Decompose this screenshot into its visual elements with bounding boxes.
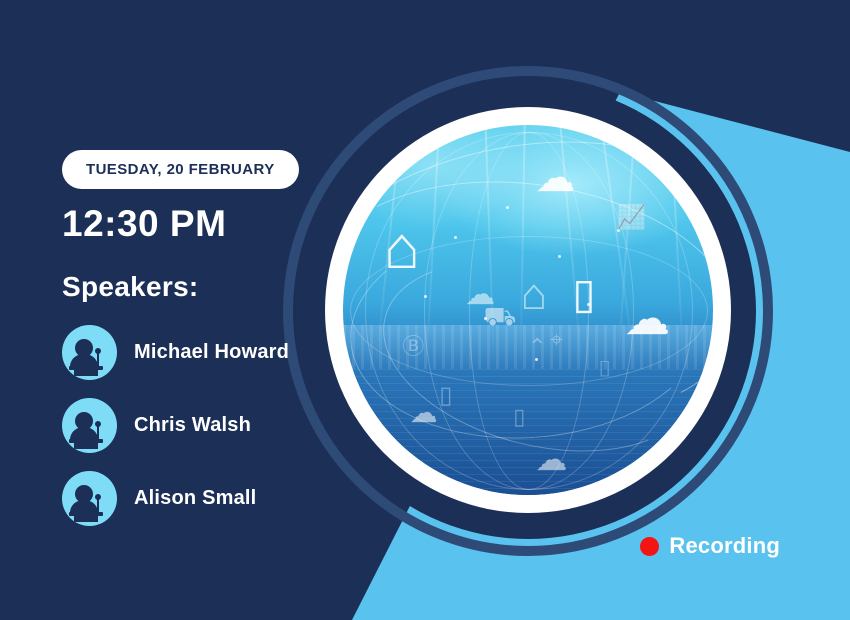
recording-label: Recording: [669, 533, 780, 559]
house-icon-secondary: ⌂: [521, 273, 548, 317]
speaker-podium-icon: [62, 398, 117, 453]
bitcoin-icon: Ⓑ: [402, 336, 424, 358]
list-item: Michael Howard: [62, 325, 299, 380]
speaker-name: Chris Walsh: [134, 414, 251, 437]
cloud-icon: ☁: [535, 158, 575, 198]
speakers-list: Michael Howard Chris Walsh: [62, 325, 299, 526]
house-icon: ⌂: [384, 218, 420, 278]
iot-network-globe-image: ⌂ ⌂ ☁ ☁ ☁ ☁ ☁ ▯ ▯ ▯ ⛟ 📈 Ⓑ ⌖ ⌷ ⌃: [343, 125, 713, 495]
event-date-badge: TUESDAY, 20 FEBRUARY: [62, 150, 299, 189]
smartphone-icon-small: ▯: [439, 384, 452, 408]
record-dot-icon: [640, 537, 659, 556]
chart-icon: 📈: [617, 206, 647, 230]
cloud-icon-right: ☁: [624, 295, 670, 341]
list-item: Chris Walsh: [62, 398, 299, 453]
speaker-podium-icon: [62, 471, 117, 526]
event-time: 12:30 PM: [62, 203, 299, 245]
cloud-icon-bottom: ☁: [535, 443, 567, 475]
smartphone-icon-small-2: ▯: [513, 406, 525, 428]
lock-icon: ⌷: [598, 358, 611, 380]
speaker-podium-icon: [62, 325, 117, 380]
arrow-up-icon: ⌃: [528, 336, 546, 358]
car-icon: ⛟: [484, 303, 517, 329]
event-announcement-canvas: ⌂ ⌂ ☁ ☁ ☁ ☁ ☁ ▯ ▯ ▯ ⛟ 📈 Ⓑ ⌖ ⌷ ⌃ TUESDAY,…: [0, 0, 850, 620]
event-details-panel: TUESDAY, 20 FEBRUARY 12:30 PM Speakers: …: [62, 150, 299, 544]
list-item: Alison Small: [62, 471, 299, 526]
speakers-heading: Speakers:: [62, 271, 299, 303]
speaker-name: Alison Small: [134, 487, 256, 510]
cloud-icon-lower: ☁: [410, 399, 438, 427]
location-pin-icon: ⌖: [550, 329, 562, 351]
recording-status-badge: Recording: [640, 533, 780, 559]
smartphone-icon: ▯: [572, 273, 595, 315]
speaker-name: Michael Howard: [134, 341, 289, 364]
